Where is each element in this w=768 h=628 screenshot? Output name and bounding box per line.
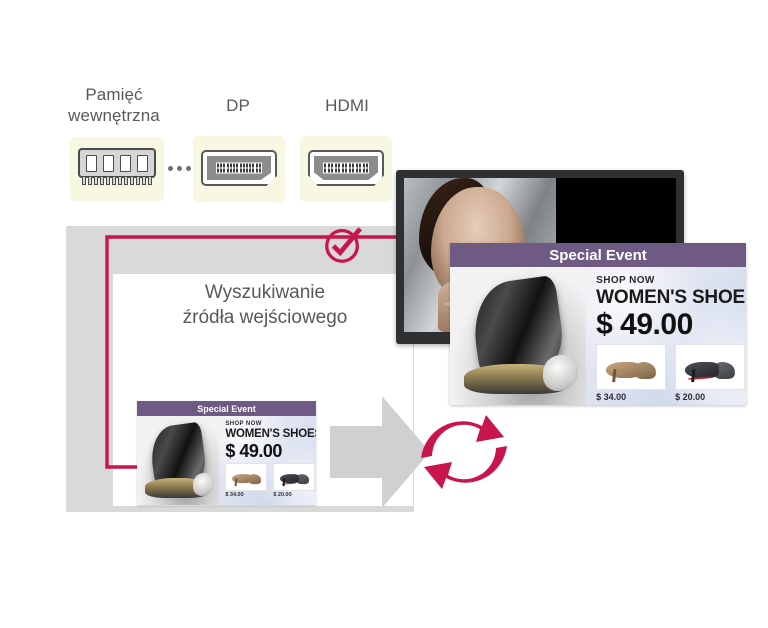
tan-pump-thumbnail[interactable] [225,463,267,491]
gray-pump-thumbnail[interactable] [675,344,745,390]
thumb-price-tan-large: $ 34.00 [596,392,666,402]
ad-thumbnail-prices-large: $ 34.00 $ 20.00 [596,392,746,402]
check-circle-icon [322,224,364,266]
ad-thumbnails-small [225,463,316,491]
source-label-internal-memory: Pamięć wewnętrzna [40,84,188,126]
ellipsis-icon [168,166,192,171]
ad-shop-now-large: SHOP NOW [596,275,746,286]
hdmi-connector-icon [308,150,384,186]
ad-panel-large[interactable]: Special Event SHOP NOW WOMEN'S SHOES $ 4… [450,243,746,405]
ad-title-small: WOMEN'S SHOES [225,428,316,441]
ad-hero-shoe-image-large [450,267,586,405]
ad-info-small: SHOP NOW WOMEN'S SHOES $ 49.00 $ 34.00 $… [219,416,316,505]
ad-thumbnail-prices-small: $ 34.00 $ 20.00 [225,492,316,498]
ad-info-large: SHOP NOW WOMEN'S SHOES $ 49.00 $ 34.00 $… [586,267,746,405]
sync-refresh-icon [418,412,510,492]
memory-module-icon [78,148,156,188]
thumb-price-tan-small: $ 34.00 [225,492,267,498]
thumb-price-gray-large: $ 20.00 [675,392,745,402]
ad-thumbnails-large [596,344,746,390]
diagram-stage: Pamięć wewnętrzna DP HDMI Wyszukiwan [0,0,768,628]
ad-shop-now-small: SHOP NOW [225,421,316,427]
flow-arrow-right-icon [330,392,430,512]
source-label-dp: DP [190,95,286,116]
ad-price-large: $ 49.00 [596,308,746,341]
gray-pump-thumbnail[interactable] [273,463,315,491]
ad-hero-shoe-image-small [137,416,219,505]
ad-header-large: Special Event [450,243,746,267]
source-label-hdmi: HDMI [295,95,399,116]
ad-panel-small[interactable]: Special Event SHOP NOW WOMEN'S SHOES $ 4… [137,401,316,505]
ad-title-large: WOMEN'S SHOES [596,287,746,308]
thumb-price-gray-small: $ 20.00 [273,492,315,498]
tan-pump-thumbnail[interactable] [596,344,666,390]
displayport-connector-icon [201,150,277,186]
ad-price-small: $ 49.00 [225,441,316,461]
ad-header-small: Special Event [137,401,316,416]
